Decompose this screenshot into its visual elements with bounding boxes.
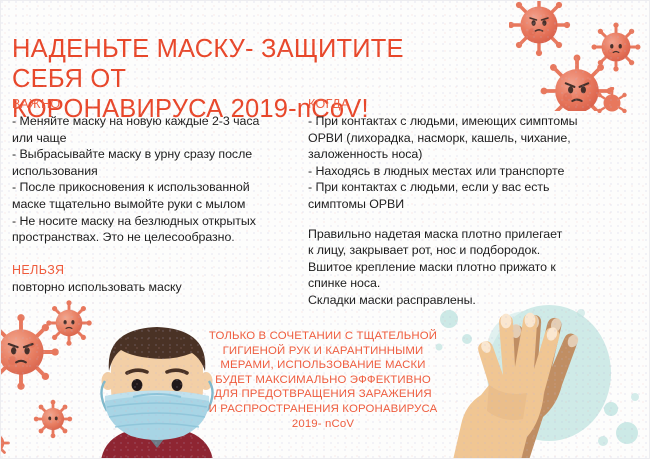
- important-heading: ВАЖНО: [12, 97, 302, 111]
- virus-icon: [0, 430, 9, 453]
- virus-icon: [592, 23, 641, 72]
- virus-cluster-left: [0, 297, 113, 459]
- boy-eye-right: [172, 379, 183, 391]
- virus-icon: [0, 314, 59, 390]
- boy-eye-left: [132, 379, 143, 391]
- when-heading: КОГДА: [308, 97, 638, 111]
- fit-note-body: Правильно надетая маска плотно прилегает…: [308, 226, 638, 309]
- forbidden-body: повторно использовать маску: [12, 279, 302, 296]
- right-column: КОГДА - При контактах с людьми, имеющих …: [308, 97, 638, 309]
- virus-icon: [46, 300, 92, 346]
- infographic-poster: НАДЕНЬТЕ МАСКУ- ЗАЩИТИТЕ СЕБЯ ОТ КОРОНАВ…: [0, 0, 650, 459]
- virus-icon: [34, 400, 72, 438]
- important-body: - Меняйте маску на новую каждые 2-3 часа…: [12, 113, 302, 246]
- virus-icon: [509, 0, 570, 56]
- slogan-text: ТОЛЬКО В СОЧЕТАНИИ С ТЩАТЕЛЬНОЙ ГИГИЕНОЙ…: [197, 329, 449, 431]
- when-body: - При контактах с людьми, имеющих симпто…: [308, 113, 638, 213]
- left-column: ВАЖНО - Меняйте маску на новую каждые 2-…: [12, 97, 302, 295]
- forbidden-heading: НЕЛЬЗЯ: [12, 263, 302, 277]
- hands-washing-with-soap: [431, 301, 650, 459]
